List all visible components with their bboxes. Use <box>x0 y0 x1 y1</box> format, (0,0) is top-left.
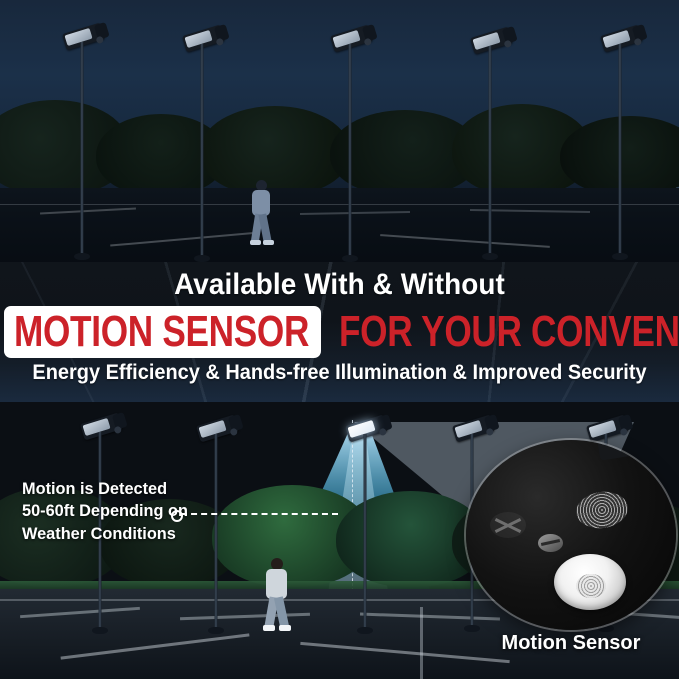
pole-light <box>182 30 222 262</box>
pole-base <box>208 627 224 634</box>
person-walking <box>248 180 274 248</box>
annotation-line-2: 50-60ft Depending on <box>22 500 188 522</box>
sensor-screw-icon <box>538 534 563 552</box>
pole-mast <box>81 42 84 256</box>
pole-light <box>345 420 385 634</box>
pole-base <box>482 253 498 260</box>
pole-base <box>194 255 210 262</box>
pir-dome-lens <box>554 554 626 610</box>
led-panel <box>198 420 226 438</box>
person-walking-lit <box>262 558 292 634</box>
pole-base <box>342 255 358 262</box>
sensor-bracket <box>596 440 661 461</box>
pole-mast <box>364 434 367 630</box>
pole-light <box>600 30 640 260</box>
led-panel <box>332 30 360 48</box>
pole-mast <box>201 44 204 258</box>
motion-sensor-label: Motion Sensor <box>466 632 676 655</box>
pole-light <box>196 420 236 634</box>
pole-base <box>357 627 373 634</box>
banner-headline: MOTION SENSOR FOR YOUR CONVENIENCE <box>0 306 679 358</box>
headline-banner: Available With & Without MOTION SENSOR F… <box>0 262 679 402</box>
headline-highlight-text: MOTION SENSOR <box>14 310 309 354</box>
pole-light <box>330 30 370 262</box>
led-panel <box>64 28 92 46</box>
led-panel <box>472 32 500 50</box>
led-panel <box>454 420 482 438</box>
annotation-dashed-leader <box>181 513 338 515</box>
sensor-housing-closeup <box>466 440 676 630</box>
pole-base <box>74 253 90 260</box>
annotation-line-3: Weather Conditions <box>22 523 188 545</box>
led-panel <box>184 30 212 48</box>
top-night-scene <box>0 0 679 268</box>
pole-mast <box>489 46 492 256</box>
pole-mast <box>619 44 622 256</box>
pole-light <box>470 32 510 260</box>
banner-kicker: Available With & Without <box>24 270 655 300</box>
pole-light <box>62 28 102 260</box>
headline-rest-text: FOR YOUR CONVENIENCE <box>339 310 679 354</box>
motion-range-annotation: Motion is Detected 50-60ft Depending on … <box>22 478 188 545</box>
sensor-emblem-icon <box>574 489 631 532</box>
pole-mast <box>215 434 218 630</box>
sensor-cross-screw-icon <box>490 512 526 538</box>
led-panel <box>347 420 375 438</box>
annotation-dot-marker <box>171 510 183 522</box>
motion-sensor-callout <box>466 440 676 630</box>
product-marketing-image: Available With & Without MOTION SENSOR F… <box>0 0 679 679</box>
pole-base <box>92 627 108 634</box>
led-panel <box>82 418 110 436</box>
annotation-line-1: Motion is Detected <box>22 478 188 500</box>
banner-subline: Energy Efficiency & Hands-free Illuminat… <box>17 362 662 383</box>
pole-base <box>612 253 628 260</box>
led-panel <box>588 420 616 438</box>
led-panel <box>602 30 630 48</box>
pole-mast <box>349 44 352 258</box>
